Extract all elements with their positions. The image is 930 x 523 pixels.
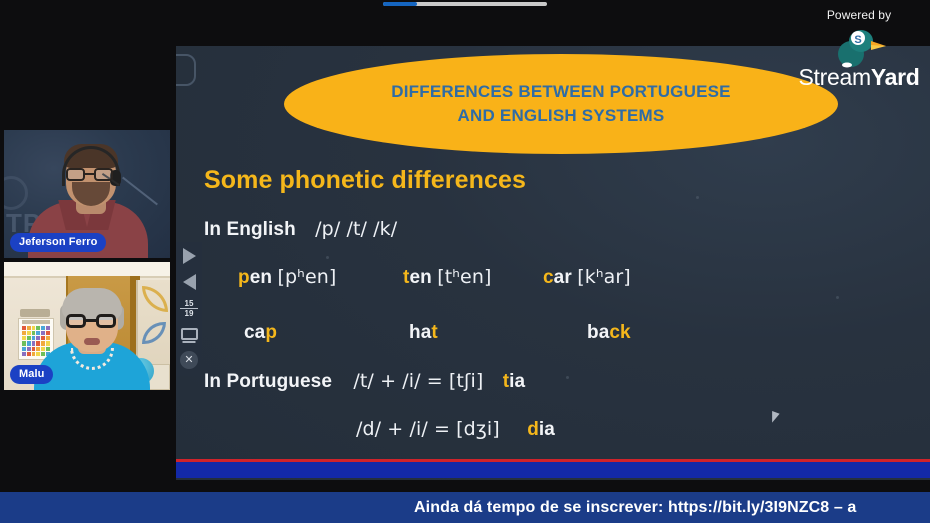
portuguese-word-tia: tia: [503, 371, 525, 392]
glasses-bridge: [86, 319, 96, 322]
slide-total-number: 19: [185, 309, 194, 318]
word-ten-rest: en: [409, 267, 431, 288]
participant-name-badge: Jeferson Ferro: [10, 233, 106, 252]
word-pen-highlight: p: [238, 267, 250, 288]
slide-heading: Some phonetic differences: [204, 166, 526, 195]
person-mouth: [84, 338, 100, 345]
portuguese-rule-1: /t/ + /i/ = [tʃi]: [353, 370, 483, 392]
wall-hooks: [20, 309, 50, 317]
word-hat-highlight: t: [431, 322, 437, 343]
word-car-rest: ar: [554, 267, 572, 288]
word-back-pre: ba: [587, 322, 609, 343]
video-progress-bar[interactable]: [383, 2, 547, 6]
word-hat-pre: ha: [409, 322, 431, 343]
english-label: In English: [204, 219, 296, 240]
video-progress-fill: [383, 2, 417, 6]
wall-chart-title: [22, 320, 50, 324]
present-screen-button[interactable]: [179, 324, 199, 344]
streamyard-word-light: Stream: [798, 64, 870, 90]
previous-slide-button[interactable]: [179, 272, 199, 292]
streamyard-word-bold: Yard: [871, 64, 920, 90]
word-hat: hat: [409, 322, 549, 344]
slide-decor-speck: [326, 256, 329, 259]
slide-counter-value: 15 19: [180, 299, 198, 318]
word-back-highlight: ck: [609, 322, 630, 343]
slide-counter: 15 19: [179, 298, 199, 318]
svg-text:S: S: [854, 34, 861, 46]
slide-row-words-aspirated: pen [pʰen]ten [tʰen]car [kʰar]: [238, 266, 631, 289]
word-car-ipa: [kʰar]: [577, 266, 631, 288]
ticker-text: Ainda dá tempo de se inscrever: https://…: [0, 499, 856, 517]
slide-row-english: In English /p/ /t/ /k/: [204, 218, 397, 241]
slide-current-number: 15: [180, 299, 198, 309]
word-dia-rest: ia: [539, 419, 555, 440]
broadcast-stage: Powered by S StreamYard TP Jeferson Ferr: [0, 0, 930, 523]
word-tia-rest: ia: [509, 371, 525, 392]
participant-tile-jeferson-ferro[interactable]: TP Jeferson Ferro: [4, 130, 170, 258]
close-presentation-button[interactable]: ✕: [179, 350, 199, 370]
wall-chart-grid: [22, 326, 50, 356]
glasses-lens-left: [66, 314, 86, 328]
portuguese-rule-2: /d/ + /i/ = [dʒi]: [356, 418, 500, 440]
word-cap-pre: ca: [244, 322, 265, 343]
slide-row-portuguese: In Portuguese /t/ + /i/ = [tʃi] tia: [204, 370, 525, 393]
word-pen: pen [pʰen]: [238, 266, 403, 289]
slide-row-words-final: caphatback: [244, 322, 631, 344]
slide-title-ellipse: DIFFERENCES BETWEEN PORTUGUESE AND ENGLI…: [284, 54, 838, 154]
presentation-controls[interactable]: 15 19 ✕: [176, 242, 202, 376]
next-slide-button[interactable]: [179, 246, 199, 266]
slide-title-line-1: DIFFERENCES BETWEEN PORTUGUESE: [391, 81, 730, 103]
glasses-bridge: [85, 173, 94, 175]
english-phonemes: /p/ /t/ /k/: [315, 218, 397, 240]
word-ten: ten [tʰen]: [403, 266, 543, 289]
word-cap: cap: [244, 322, 409, 344]
slide-title-line-2: AND ENGLISH SYSTEMS: [458, 105, 665, 127]
play-triangle-icon: [183, 248, 196, 264]
portuguese-word-dia: dia: [527, 419, 555, 440]
participant-tile-malu[interactable]: Malu: [4, 262, 170, 390]
word-pen-ipa: [pʰen]: [277, 266, 336, 288]
screen-icon: [181, 328, 198, 340]
back-triangle-icon: [183, 274, 196, 290]
glasses-lens-right: [94, 168, 113, 181]
streamyard-wordmark: StreamYard: [796, 64, 922, 90]
word-back: back: [587, 322, 631, 344]
word-car: car [kʰar]: [543, 266, 631, 289]
slide-decor-rounded-rect: [176, 54, 196, 86]
powered-by-label: Powered by: [796, 8, 922, 22]
close-icon: ✕: [180, 351, 198, 369]
portuguese-label: In Portuguese: [204, 371, 332, 392]
participant-name-badge: Malu: [10, 365, 53, 384]
lower-third-ticker: Ainda dá tempo de se inscrever: https://…: [0, 492, 930, 523]
slide-decor-speck: [836, 296, 839, 299]
word-pen-rest: en: [250, 267, 272, 288]
word-ten-ipa: [tʰen]: [437, 266, 491, 288]
streamyard-branding: Powered by S StreamYard: [796, 8, 922, 90]
mouse-cursor-icon: [768, 411, 779, 424]
glasses-lens-right: [96, 314, 116, 328]
slide-rule-blue: [176, 462, 930, 478]
slide-decor-speck: [696, 196, 699, 199]
word-dia-highlight: d: [527, 419, 539, 440]
word-car-highlight: c: [543, 267, 554, 288]
presentation-slide[interactable]: DIFFERENCES BETWEEN PORTUGUESE AND ENGLI…: [176, 46, 930, 480]
slide-decor-speck: [566, 376, 569, 379]
slide-row-portuguese-2: /d/ + /i/ = [dʒi] dia: [356, 418, 555, 441]
glasses-lens-left: [66, 168, 85, 181]
word-cap-highlight: p: [265, 322, 277, 343]
streamyard-duck-icon: S: [831, 24, 887, 68]
